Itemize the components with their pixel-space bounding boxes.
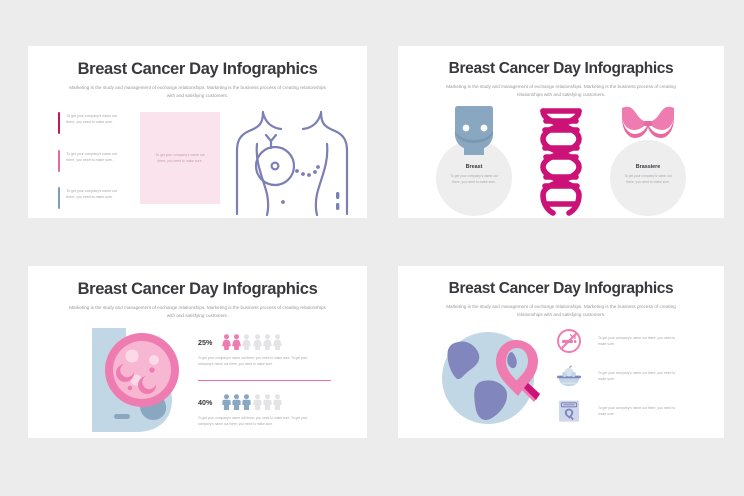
breast-icon bbox=[451, 104, 497, 163]
no-smoking-icon bbox=[556, 328, 582, 354]
male-figure-icon bbox=[222, 394, 231, 410]
accent-bar bbox=[58, 112, 60, 134]
stat-row-female: 25% To get your company's name out there… bbox=[198, 334, 333, 367]
accent-bar bbox=[58, 187, 60, 209]
female-figure-icon bbox=[242, 334, 251, 350]
slide-1-body: To get your company's name out there, yo… bbox=[28, 108, 367, 218]
list-item[interactable]: To get your company's name out there, yo… bbox=[58, 112, 130, 134]
statistics-panel: 25% To get your company's name out there… bbox=[198, 334, 333, 428]
dna-helix-icon bbox=[535, 108, 587, 218]
list-item[interactable]: To get your company's name out there, yo… bbox=[556, 328, 706, 354]
bulleted-list: To get your company's name out there, yo… bbox=[58, 112, 130, 218]
page-title: Breast Cancer Day Infographics bbox=[398, 280, 724, 298]
page-title: Breast Cancer Day Infographics bbox=[28, 60, 367, 79]
globe-with-ribbon-illustration bbox=[440, 326, 548, 435]
male-figure-icon bbox=[242, 394, 251, 410]
male-figure-icon bbox=[263, 394, 272, 410]
list-item-text: To get your company's name out there, yo… bbox=[66, 150, 120, 172]
stat-header: 40% bbox=[198, 394, 333, 410]
healthy-food-bowl-icon bbox=[556, 363, 582, 389]
accent-bar bbox=[58, 150, 60, 172]
female-pictogram-group bbox=[222, 334, 282, 350]
page-subtitle: Marketing is the study and management of… bbox=[435, 83, 687, 99]
stat-percent: 40% bbox=[198, 398, 222, 407]
female-figure-icon bbox=[222, 334, 231, 350]
stat-header: 25% bbox=[198, 334, 333, 350]
page-title: Breast Cancer Day Infographics bbox=[398, 60, 724, 78]
list-item-text: To get your company's name out there, yo… bbox=[598, 335, 678, 348]
female-figure-icon bbox=[232, 334, 241, 350]
male-figure-icon bbox=[273, 394, 282, 410]
male-figure-icon bbox=[253, 394, 262, 410]
page-subtitle: Marketing is the study and management of… bbox=[435, 303, 687, 319]
slide-2[interactable]: Breast Cancer Day Infographics Marketing… bbox=[398, 46, 724, 218]
list-item[interactable]: To get your company's name out there, yo… bbox=[556, 398, 706, 424]
list-item-text: To get your company's name out there, yo… bbox=[66, 112, 120, 134]
pink-callout-text: To get your company's name out there, yo… bbox=[153, 152, 207, 164]
list-item-text: To get your company's name out there, yo… bbox=[598, 405, 678, 418]
list-item-text: To get your company's name out there, yo… bbox=[598, 370, 678, 383]
pink-callout-box[interactable]: To get your company's name out there, yo… bbox=[140, 112, 220, 204]
prevention-tips-list: To get your company's name out there, yo… bbox=[556, 328, 706, 433]
male-pictogram-group bbox=[222, 394, 282, 410]
female-torso-illustration bbox=[233, 108, 351, 216]
slide-3-body: 25% To get your company's name out there… bbox=[28, 326, 367, 438]
brassiere-icon bbox=[620, 104, 676, 159]
list-item-text: To get your company's name out there, yo… bbox=[66, 187, 120, 209]
female-figure-icon bbox=[273, 334, 282, 350]
page-title: Breast Cancer Day Infographics bbox=[28, 280, 367, 299]
divider bbox=[198, 380, 331, 381]
card-description: To get your company's name out there, yo… bbox=[446, 174, 502, 186]
page-subtitle: Marketing is the study and management of… bbox=[66, 304, 330, 320]
mammogram-cell-illustration bbox=[88, 326, 188, 438]
slide-4[interactable]: Breast Cancer Day Infographics Marketing… bbox=[398, 266, 724, 438]
list-item[interactable]: To get your company's name out there, yo… bbox=[58, 187, 130, 209]
list-item[interactable]: To get your company's name out there, yo… bbox=[556, 363, 706, 389]
female-figure-icon bbox=[263, 334, 272, 350]
female-figure-icon bbox=[253, 334, 262, 350]
slide-3[interactable]: Breast Cancer Day Infographics Marketing… bbox=[28, 266, 367, 438]
slide-deck-canvas: Breast Cancer Day Infographics Marketing… bbox=[0, 0, 744, 496]
stat-percent: 25% bbox=[198, 338, 222, 347]
card-description: To get your company's name out there, yo… bbox=[620, 174, 676, 186]
slide-4-body: To get your company's name out there, yo… bbox=[398, 324, 724, 438]
slide-1[interactable]: Breast Cancer Day Infographics Marketing… bbox=[28, 46, 367, 218]
card-label: Breast bbox=[422, 164, 526, 170]
male-figure-icon bbox=[232, 394, 241, 410]
stat-row-male: 40% To get your company's name out there… bbox=[198, 394, 333, 427]
stat-description: To get your company's name out there, yo… bbox=[198, 415, 322, 427]
list-item[interactable]: To get your company's name out there, yo… bbox=[58, 150, 130, 172]
card-label: Brassiere bbox=[596, 164, 700, 170]
slide-2-body: Breast To get your company's name out th… bbox=[398, 104, 724, 218]
stat-description: To get your company's name out there, yo… bbox=[198, 355, 322, 367]
page-subtitle: Marketing is the study and management of… bbox=[66, 84, 330, 100]
awareness-poster-icon bbox=[556, 398, 582, 424]
